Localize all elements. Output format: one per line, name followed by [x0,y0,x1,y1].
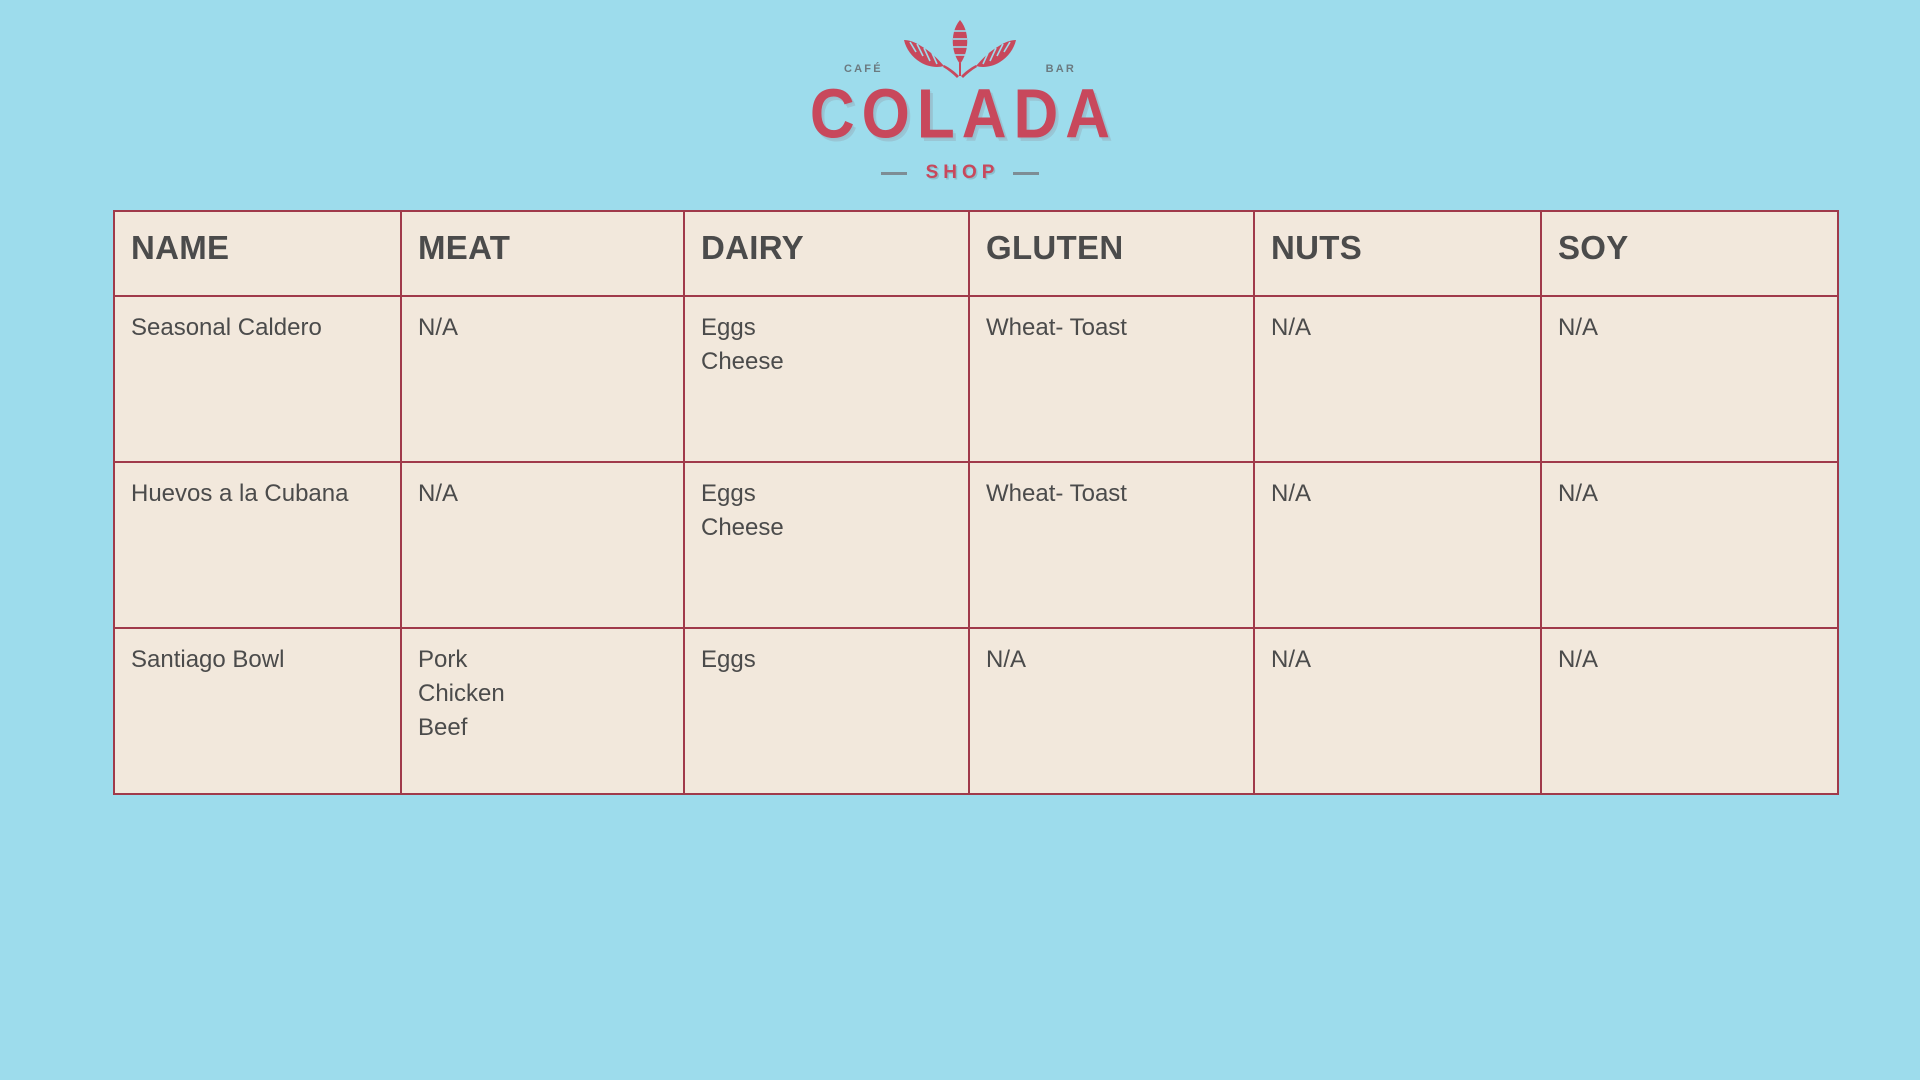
cell-line: N/A [1558,643,1837,677]
cell-line: Pork [418,643,683,677]
cell-line: Cheese [701,345,968,379]
cell-meat: PorkChickenBeef [401,628,684,794]
column-header-gluten: GLUTEN [969,211,1254,296]
cell-name: Santiago Bowl [114,628,401,794]
cell-name: Huevos a la Cubana [114,462,401,628]
column-header-soy: SOY [1541,211,1838,296]
cell-line: N/A [986,643,1253,677]
cell-line: Eggs [701,477,968,511]
crest-cafe-label: CAFÉ [844,63,883,75]
cell-nuts: N/A [1254,628,1541,794]
column-header-name: NAME [114,211,401,296]
cell-line: Cheese [701,511,968,545]
cell-line: Santiago Bowl [131,643,400,677]
column-header-dairy: DAIRY [684,211,969,296]
cell-line: N/A [1558,477,1837,511]
cell-nuts: N/A [1254,296,1541,462]
feather-crest-icon [860,18,1060,80]
column-header-meat: MEAT [401,211,684,296]
crest-bar-label: BAR [1046,63,1076,75]
cell-line: Wheat- Toast [986,311,1253,345]
cell-line: N/A [1558,311,1837,345]
cell-name: Seasonal Caldero [114,296,401,462]
cell-line: N/A [1271,311,1540,345]
colada-shop-logo: CAFÉ BAR COLADA SHOP [0,18,1920,188]
allergen-table: NAME MEAT DAIRY GLUTEN NUTS SOY Seasonal… [113,210,1839,795]
cell-line: Huevos a la Cubana [131,477,400,511]
cell-line: Eggs [701,311,968,345]
cell-line: Wheat- Toast [986,477,1253,511]
cell-line: N/A [1271,643,1540,677]
cell-soy: N/A [1541,296,1838,462]
cell-meat: N/A [401,462,684,628]
cell-gluten: N/A [969,628,1254,794]
cell-line: Chicken [418,677,683,711]
cell-gluten: Wheat- Toast [969,462,1254,628]
table-row: Seasonal Caldero N/A EggsCheese Wheat- T… [114,296,1838,462]
column-header-nuts: NUTS [1254,211,1541,296]
table-row: Santiago Bowl PorkChickenBeef Eggs N/A N… [114,628,1838,794]
cell-line: N/A [1271,477,1540,511]
dash-left-icon [881,172,907,175]
allergen-table-container: NAME MEAT DAIRY GLUTEN NUTS SOY Seasonal… [113,210,1837,795]
logo-shop-label: SHOP [921,162,1000,184]
cell-dairy: Eggs [684,628,969,794]
logo-wordmark: COLADA [803,80,1117,149]
cell-line: Beef [418,711,683,745]
cell-meat: N/A [401,296,684,462]
page-root: CAFÉ BAR COLADA SHOP NAME MEAT DAIRY GLU… [0,0,1920,1080]
dash-right-icon [1013,172,1039,175]
logo-crest: CAFÉ BAR [830,18,1090,80]
cell-gluten: Wheat- Toast [969,296,1254,462]
cell-nuts: N/A [1254,462,1541,628]
logo-shop-line: SHOP [881,162,1040,184]
cell-dairy: EggsCheese [684,296,969,462]
cell-line: N/A [418,477,683,511]
cell-dairy: EggsCheese [684,462,969,628]
table-row: Huevos a la Cubana N/A EggsCheese Wheat-… [114,462,1838,628]
cell-line: Eggs [701,643,968,677]
cell-soy: N/A [1541,628,1838,794]
cell-soy: N/A [1541,462,1838,628]
table-body: Seasonal Caldero N/A EggsCheese Wheat- T… [114,296,1838,794]
table-header-row: NAME MEAT DAIRY GLUTEN NUTS SOY [114,211,1838,296]
cell-line: Seasonal Caldero [131,311,400,345]
cell-line: N/A [418,311,683,345]
